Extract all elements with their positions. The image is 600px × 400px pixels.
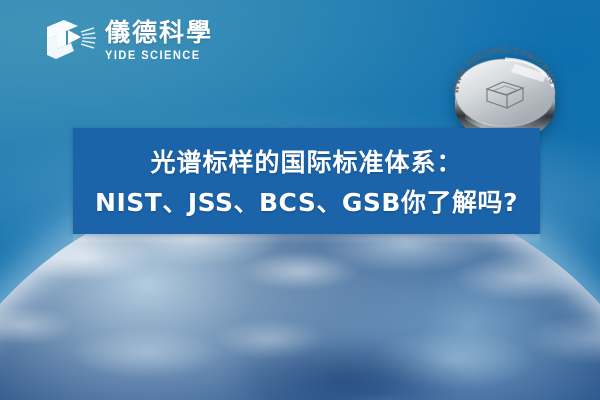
brand-logo-text: 儀德科學 YIDE SCIENCE [105, 20, 213, 61]
brand-logo: 儀德科學 YIDE SCIENCE [44, 18, 213, 62]
yide-science-logo-mark-icon [44, 18, 96, 62]
poster-image: 儀德科學 YIDE SCIENCE [0, 0, 600, 400]
headline-banner: 光谱标样的国际标准体系： NIST、JSS、BCS、GSB你了解吗? [73, 128, 540, 234]
headline-line-2: NIST、JSS、BCS、GSB你了解吗? [95, 183, 518, 219]
banner-underglow [73, 234, 540, 244]
brand-name-chinese: 儀德科學 [105, 20, 213, 45]
brand-name-english: YIDE SCIENCE [105, 49, 204, 61]
headline-line-1: 光谱标样的国际标准体系： [150, 143, 462, 179]
